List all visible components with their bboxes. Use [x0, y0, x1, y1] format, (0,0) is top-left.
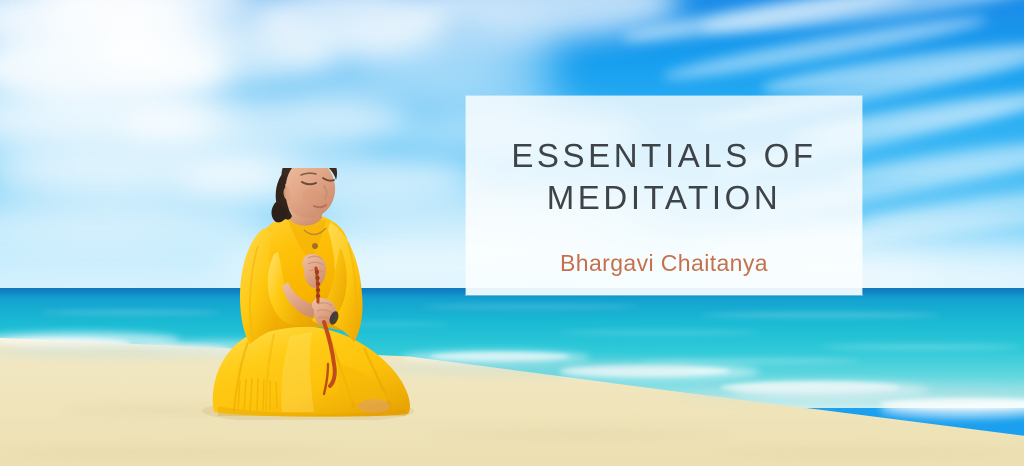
meditation-course-banner: ESSENTIALS OF MEDITATION Bhargavi Chaita… — [0, 0, 1024, 466]
author-name: Bhargavi Chaitanya — [466, 250, 862, 277]
sand-texture — [0, 448, 340, 457]
foot — [358, 399, 390, 413]
wet-sand-band — [680, 384, 1024, 402]
wet-sand-band — [380, 360, 700, 376]
cheek-blush — [302, 189, 320, 201]
meditating-woman — [178, 168, 426, 420]
ocean-swell — [820, 344, 1020, 350]
ocean-swell — [420, 304, 640, 309]
page-title: ESSENTIALS OF MEDITATION — [466, 135, 862, 219]
pendant — [312, 243, 318, 249]
ocean-swell — [700, 312, 940, 318]
sand-texture — [700, 448, 1024, 457]
shore-foam — [880, 400, 1024, 418]
title-panel: ESSENTIALS OF MEDITATION Bhargavi Chaita… — [466, 96, 862, 295]
ocean-swell — [560, 330, 760, 335]
sand-texture — [430, 430, 730, 439]
